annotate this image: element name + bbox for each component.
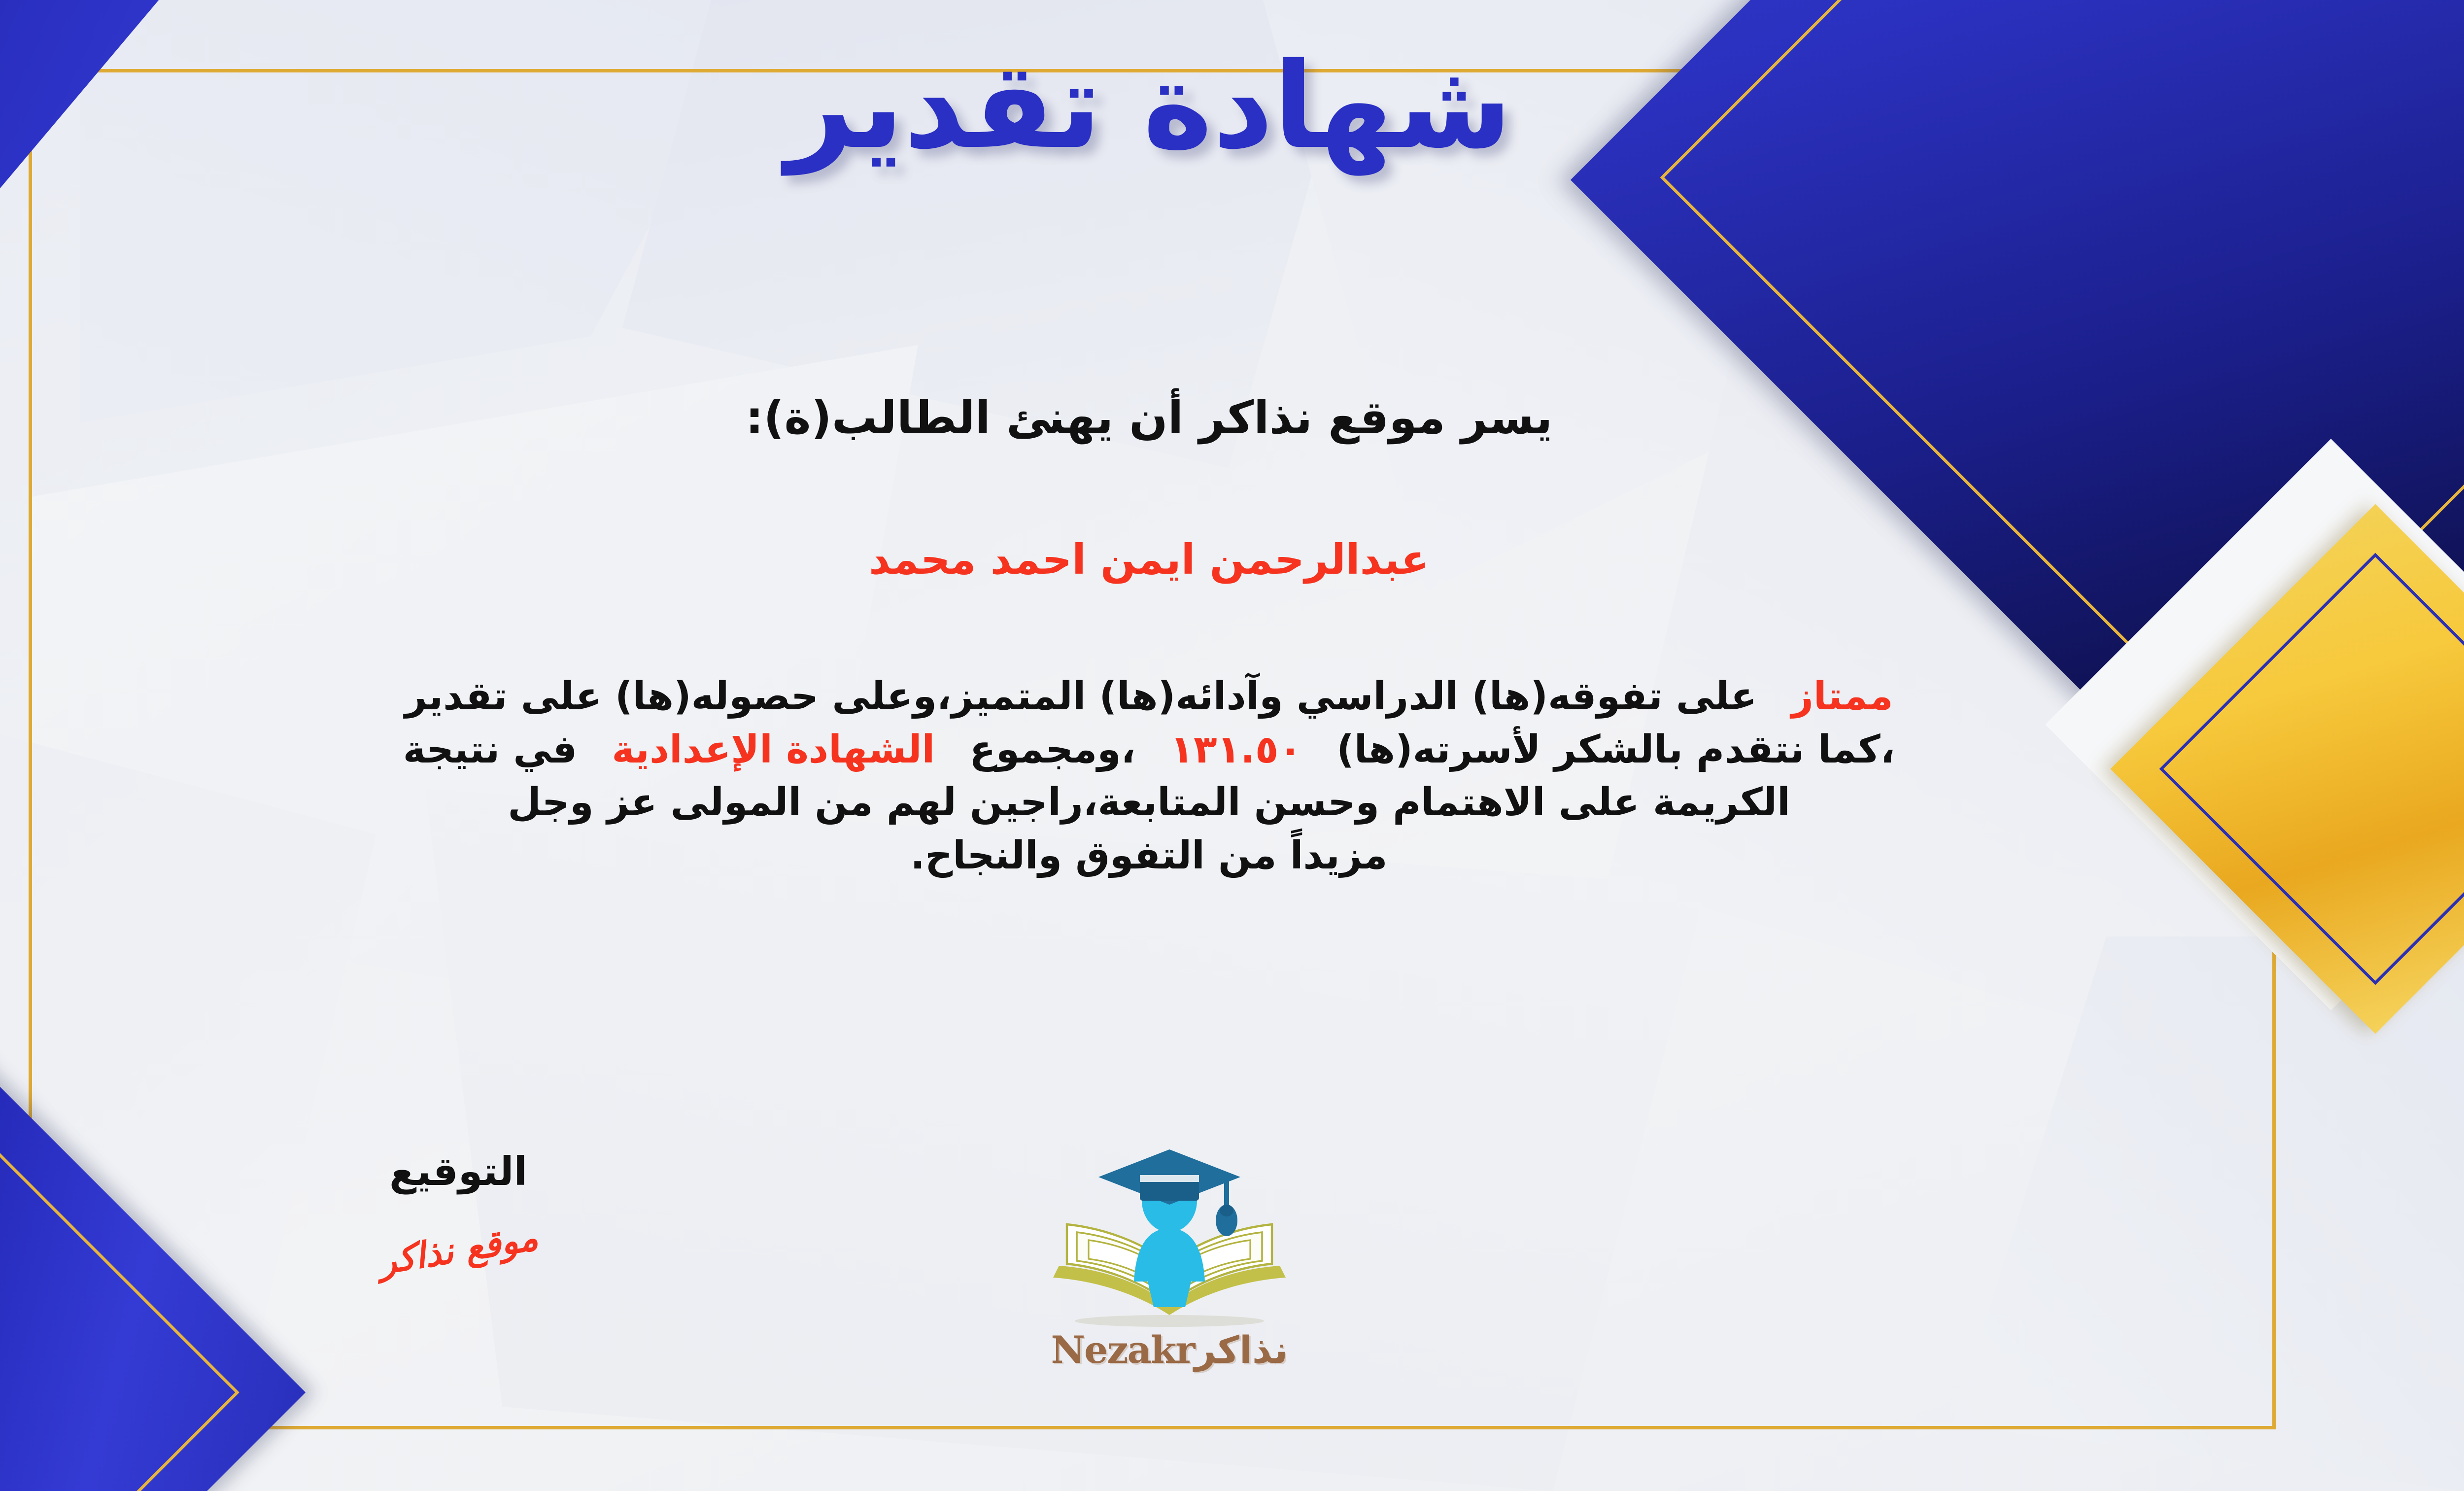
logo-arabic-text: نذاكر — [1194, 1328, 1288, 1372]
graduation-book-icon — [1031, 1134, 1307, 1331]
logo-latin-text: Nezakr — [1051, 1328, 1195, 1372]
certificate-content: شهادة تقدير يسر موقع نذاكر أن يهنئ الطال… — [0, 0, 2464, 1491]
grade-value: ممتاز — [1791, 674, 1893, 719]
body-line-4: مزيداً من التفوق والنجاح. — [46, 830, 2252, 883]
signature-block: التوقيع موقع نذاكر — [306, 1148, 611, 1270]
body-line-2-tail: ،كما نتقدم بالشكر لأسرته(ها) — [1336, 728, 1895, 772]
body-line-2-head: في نتيجة — [403, 728, 578, 772]
student-name: عبدالرحمن ايمن احمد محمد — [0, 535, 2464, 585]
signature-mark: موقع نذاكر — [376, 1216, 541, 1283]
congratulation-lead-text: يسر موقع نذاكر أن يهنئ الطالب(ة): — [0, 389, 2464, 446]
body-line-3: الكريمة على الاهتمام وحسن المتابعة،راجين… — [46, 776, 2252, 830]
site-logo: نذاكرNezakr — [987, 1134, 1352, 1410]
logo-wordmark: نذاكرNezakr — [987, 1328, 1352, 1372]
body-line-1: ممتازعلى تفوقه(ها) الدراسي وآدائه(ها) ال… — [46, 670, 2252, 724]
signature-label: التوقيع — [306, 1148, 611, 1194]
body-line-1-text: على تفوقه(ها) الدراسي وآدائه(ها) المتميز… — [405, 674, 1757, 719]
exam-name: الشهادة الإعدادية — [612, 728, 935, 772]
body-line-2-mid: ،ومجموع — [969, 728, 1135, 772]
body-line-2: ،كما نتقدم بالشكر لأسرته(ها)١٣١.٥٠،ومجمو… — [46, 724, 2252, 777]
certificate-body: ممتازعلى تفوقه(ها) الدراسي وآدائه(ها) ال… — [46, 670, 2252, 883]
certificate-title: شهادة تقدير — [0, 47, 2464, 165]
score-value: ١٣١.٥٠ — [1170, 728, 1302, 772]
certificate-canvas: شهادة تقدير يسر موقع نذاكر أن يهنئ الطال… — [0, 0, 2464, 1491]
